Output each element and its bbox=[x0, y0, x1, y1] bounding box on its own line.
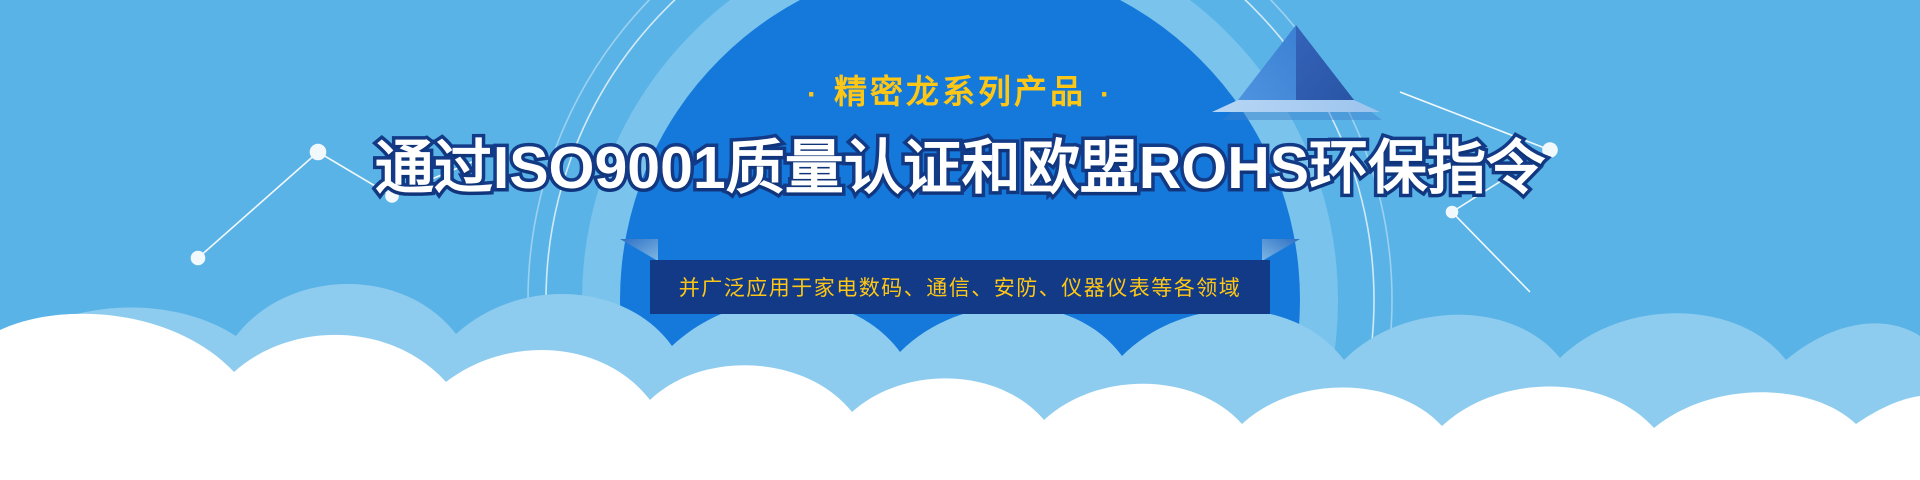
ribbon-text: 并广泛应用于家电数码、通信、安防、仪器仪表等各领域 bbox=[679, 272, 1242, 302]
ribbon-fold-left-icon bbox=[620, 239, 658, 261]
ribbon-bar: 并广泛应用于家电数码、通信、安防、仪器仪表等各领域 bbox=[650, 260, 1270, 314]
promo-banner: ·精密龙系列产品· 通过ISO9001质量认证和欧盟ROHS环保指令 并广泛应用… bbox=[0, 0, 1920, 480]
banner-ribbon: 并广泛应用于家电数码、通信、安防、仪器仪表等各领域 bbox=[650, 239, 1270, 297]
ribbon-fold-right-icon bbox=[1262, 239, 1300, 261]
